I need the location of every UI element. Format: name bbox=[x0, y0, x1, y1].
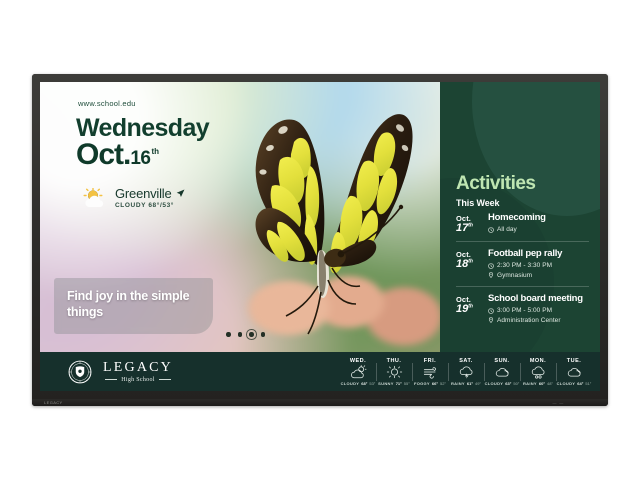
school-logo-text: LEGACY High School bbox=[103, 361, 173, 383]
activity-body: School board meeting 3:00 PM - 5:00 PM bbox=[488, 294, 589, 324]
cloud-icon bbox=[494, 365, 511, 380]
forecast-high: 68° bbox=[361, 381, 367, 386]
forecast-temps: RAINY 61° 49° bbox=[451, 381, 481, 386]
sun-behind-cloud-icon bbox=[350, 365, 367, 380]
forecast-condition: CLOUDY bbox=[341, 381, 360, 386]
school-url: www.school.edu bbox=[78, 99, 136, 108]
activity-name: Football pep rally bbox=[488, 249, 589, 260]
hero-weather-text: Greenville CLOUDY 68°/53° bbox=[115, 186, 185, 209]
forecast-day-name: SAT. bbox=[459, 358, 473, 364]
activity-date: Oct. 18th bbox=[456, 249, 481, 279]
forecast-day-name: SUN. bbox=[494, 358, 509, 364]
activity-place-row: Administration Center bbox=[488, 317, 589, 324]
activity-day: 17th bbox=[456, 223, 481, 234]
forecast-day-sat: SAT. RAINY 61° 49° bbox=[448, 358, 484, 386]
forecast-condition: CLOUDY bbox=[485, 381, 504, 386]
hero-day-ordinal: th bbox=[152, 147, 160, 156]
hero-city: Greenville bbox=[115, 186, 185, 201]
forecast-day-wed: WED. CLOUDY 68° 53° bbox=[340, 358, 376, 386]
forecast-condition: FOGGY bbox=[414, 381, 430, 386]
activities-panel: Activities This Week Oct. 17th Homecomin… bbox=[440, 82, 600, 352]
school-sub-label: High School bbox=[121, 377, 154, 383]
forecast-day-sun: SUN. CLOUDY 63° 50° bbox=[484, 358, 520, 386]
map-pin-icon bbox=[488, 272, 494, 278]
device-model-mark: — — bbox=[552, 400, 564, 405]
bottom-bar: LEGACY High School WED. bbox=[40, 352, 600, 391]
carousel-dot[interactable] bbox=[261, 332, 266, 337]
forecast-strip: WED. CLOUDY 68° 53° bbox=[340, 352, 600, 391]
hero-city-label: Greenville bbox=[115, 186, 172, 201]
forecast-day-name: FRI. bbox=[424, 358, 436, 364]
activities-list: Oct. 17th Homecoming All day bbox=[456, 206, 589, 331]
quote-card: Find joy in the simple things bbox=[54, 278, 213, 334]
hero-condition: CLOUDY 68°/53° bbox=[115, 202, 185, 209]
butterfly-photo bbox=[222, 90, 432, 340]
forecast-high: 66° bbox=[432, 381, 438, 386]
forecast-day-name: TUE. bbox=[567, 358, 582, 364]
forecast-day-name: THU. bbox=[387, 358, 402, 364]
activity-place-row: Gymnasium bbox=[488, 272, 589, 279]
activity-place: Administration Center bbox=[497, 317, 561, 324]
activity-time-row: 3:00 PM - 5:00 PM bbox=[488, 307, 589, 314]
sun-icon bbox=[386, 365, 403, 380]
forecast-low: 49° bbox=[475, 381, 481, 386]
location-arrow-icon bbox=[176, 189, 185, 198]
forecast-condition: RAINY bbox=[451, 381, 465, 386]
activities-title: Activities bbox=[456, 174, 535, 193]
school-logo: LEGACY High School bbox=[40, 360, 340, 384]
carousel-dot-active[interactable] bbox=[249, 332, 254, 337]
forecast-high: 60° bbox=[539, 381, 545, 386]
clock-icon bbox=[488, 308, 494, 314]
activity-body: Football pep rally 2:30 PM - 3:30 PM bbox=[488, 249, 589, 279]
forecast-temps: CLOUDY 63° 50° bbox=[485, 381, 520, 386]
forecast-low: 48° bbox=[547, 381, 553, 386]
logo-rule-left bbox=[105, 379, 117, 380]
forecast-day-name: MON. bbox=[530, 358, 546, 364]
forecast-day-fri: FRI. FOGGY 6 bbox=[412, 358, 448, 386]
forecast-temps: RAINY 60° 48° bbox=[523, 381, 553, 386]
forecast-high: 71° bbox=[396, 381, 402, 386]
activity-time-row: 2:30 PM - 3:30 PM bbox=[488, 262, 589, 269]
forecast-day-mon: MON. RAINY 60° 48° bbox=[520, 358, 556, 386]
sun-behind-cloud-icon bbox=[82, 188, 108, 208]
forecast-high: 63° bbox=[505, 381, 511, 386]
forecast-low: 51° bbox=[585, 381, 591, 386]
forecast-condition: CLOUDY bbox=[557, 381, 576, 386]
activity-time: 3:00 PM - 5:00 PM bbox=[497, 307, 552, 314]
carousel-dot[interactable] bbox=[226, 332, 231, 337]
forecast-low: 52° bbox=[440, 381, 446, 386]
activity-time-row: All day bbox=[488, 226, 589, 233]
screen-content: www.school.edu Wednesday Oct. 16 th bbox=[40, 82, 600, 391]
school-sub: High School bbox=[105, 377, 170, 383]
activity-day: 18th bbox=[456, 259, 481, 270]
forecast-day-tue: TUE. CLOUDY 64° 51° bbox=[556, 358, 592, 386]
activity-time: All day bbox=[497, 226, 517, 233]
activity-item[interactable]: Oct. 18th Football pep rally 2:30 PM - 3… bbox=[456, 241, 589, 286]
activity-date: Oct. 17th bbox=[456, 213, 481, 234]
clock-icon bbox=[488, 227, 494, 233]
cloud-icon bbox=[566, 365, 583, 380]
activity-name: Homecoming bbox=[488, 213, 589, 224]
monitor-chin: LEGACY — — bbox=[32, 399, 608, 406]
forecast-temps: CLOUDY 64° 51° bbox=[557, 381, 592, 386]
forecast-day-thu: THU. SUNNY 71° 55° bbox=[376, 358, 412, 386]
forecast-day-name: WED. bbox=[350, 358, 366, 364]
carousel-dot[interactable] bbox=[238, 332, 243, 337]
activities-header: Activities This Week bbox=[456, 174, 535, 208]
clock-icon bbox=[488, 263, 494, 269]
activity-item[interactable]: Oct. 17th Homecoming All day bbox=[456, 206, 589, 241]
hero-month: Oct. bbox=[76, 140, 130, 170]
activity-date: Oct. 19th bbox=[456, 294, 481, 324]
forecast-low: 53° bbox=[369, 381, 375, 386]
hero-weather-widget: Greenville CLOUDY 68°/53° bbox=[82, 186, 185, 209]
forecast-temps: SUNNY 71° 55° bbox=[378, 381, 410, 386]
forecast-low: 55° bbox=[404, 381, 410, 386]
carousel-dots[interactable] bbox=[226, 332, 265, 337]
activity-body: Homecoming All day bbox=[488, 213, 589, 234]
school-crest-icon bbox=[68, 360, 92, 384]
activity-day: 19th bbox=[456, 304, 481, 315]
forecast-condition: SUNNY bbox=[378, 381, 394, 386]
school-name: LEGACY bbox=[103, 361, 173, 375]
quote-text: Find joy in the simple things bbox=[67, 289, 200, 321]
logo-rule-right bbox=[159, 379, 171, 380]
forecast-high: 61° bbox=[467, 381, 473, 386]
fog-wind-icon bbox=[422, 365, 439, 380]
hero-day: 16 bbox=[130, 149, 150, 168]
forecast-low: 50° bbox=[513, 381, 519, 386]
map-pin-icon bbox=[488, 317, 494, 323]
forecast-temps: CLOUDY 68° 53° bbox=[341, 381, 376, 386]
activity-name: School board meeting bbox=[488, 294, 589, 305]
activity-place: Gymnasium bbox=[497, 272, 532, 279]
display-monitor: www.school.edu Wednesday Oct. 16 th bbox=[32, 74, 608, 406]
activity-time: 2:30 PM - 3:30 PM bbox=[497, 262, 552, 269]
device-brand-mark: LEGACY bbox=[44, 400, 63, 405]
screenshot-canvas: www.school.edu Wednesday Oct. 16 th bbox=[0, 0, 640, 480]
activity-item[interactable]: Oct. 19th School board meeting 3:00 PM -… bbox=[456, 286, 589, 331]
forecast-temps: FOGGY 66° 52° bbox=[414, 381, 446, 386]
forecast-high: 64° bbox=[577, 381, 583, 386]
rain-cloud-icon bbox=[530, 365, 547, 380]
hero-panel: www.school.edu Wednesday Oct. 16 th bbox=[40, 82, 440, 352]
hero-date: Oct. 16 th bbox=[76, 140, 159, 170]
thunderstorm-icon bbox=[458, 365, 475, 380]
forecast-condition: RAINY bbox=[523, 381, 537, 386]
